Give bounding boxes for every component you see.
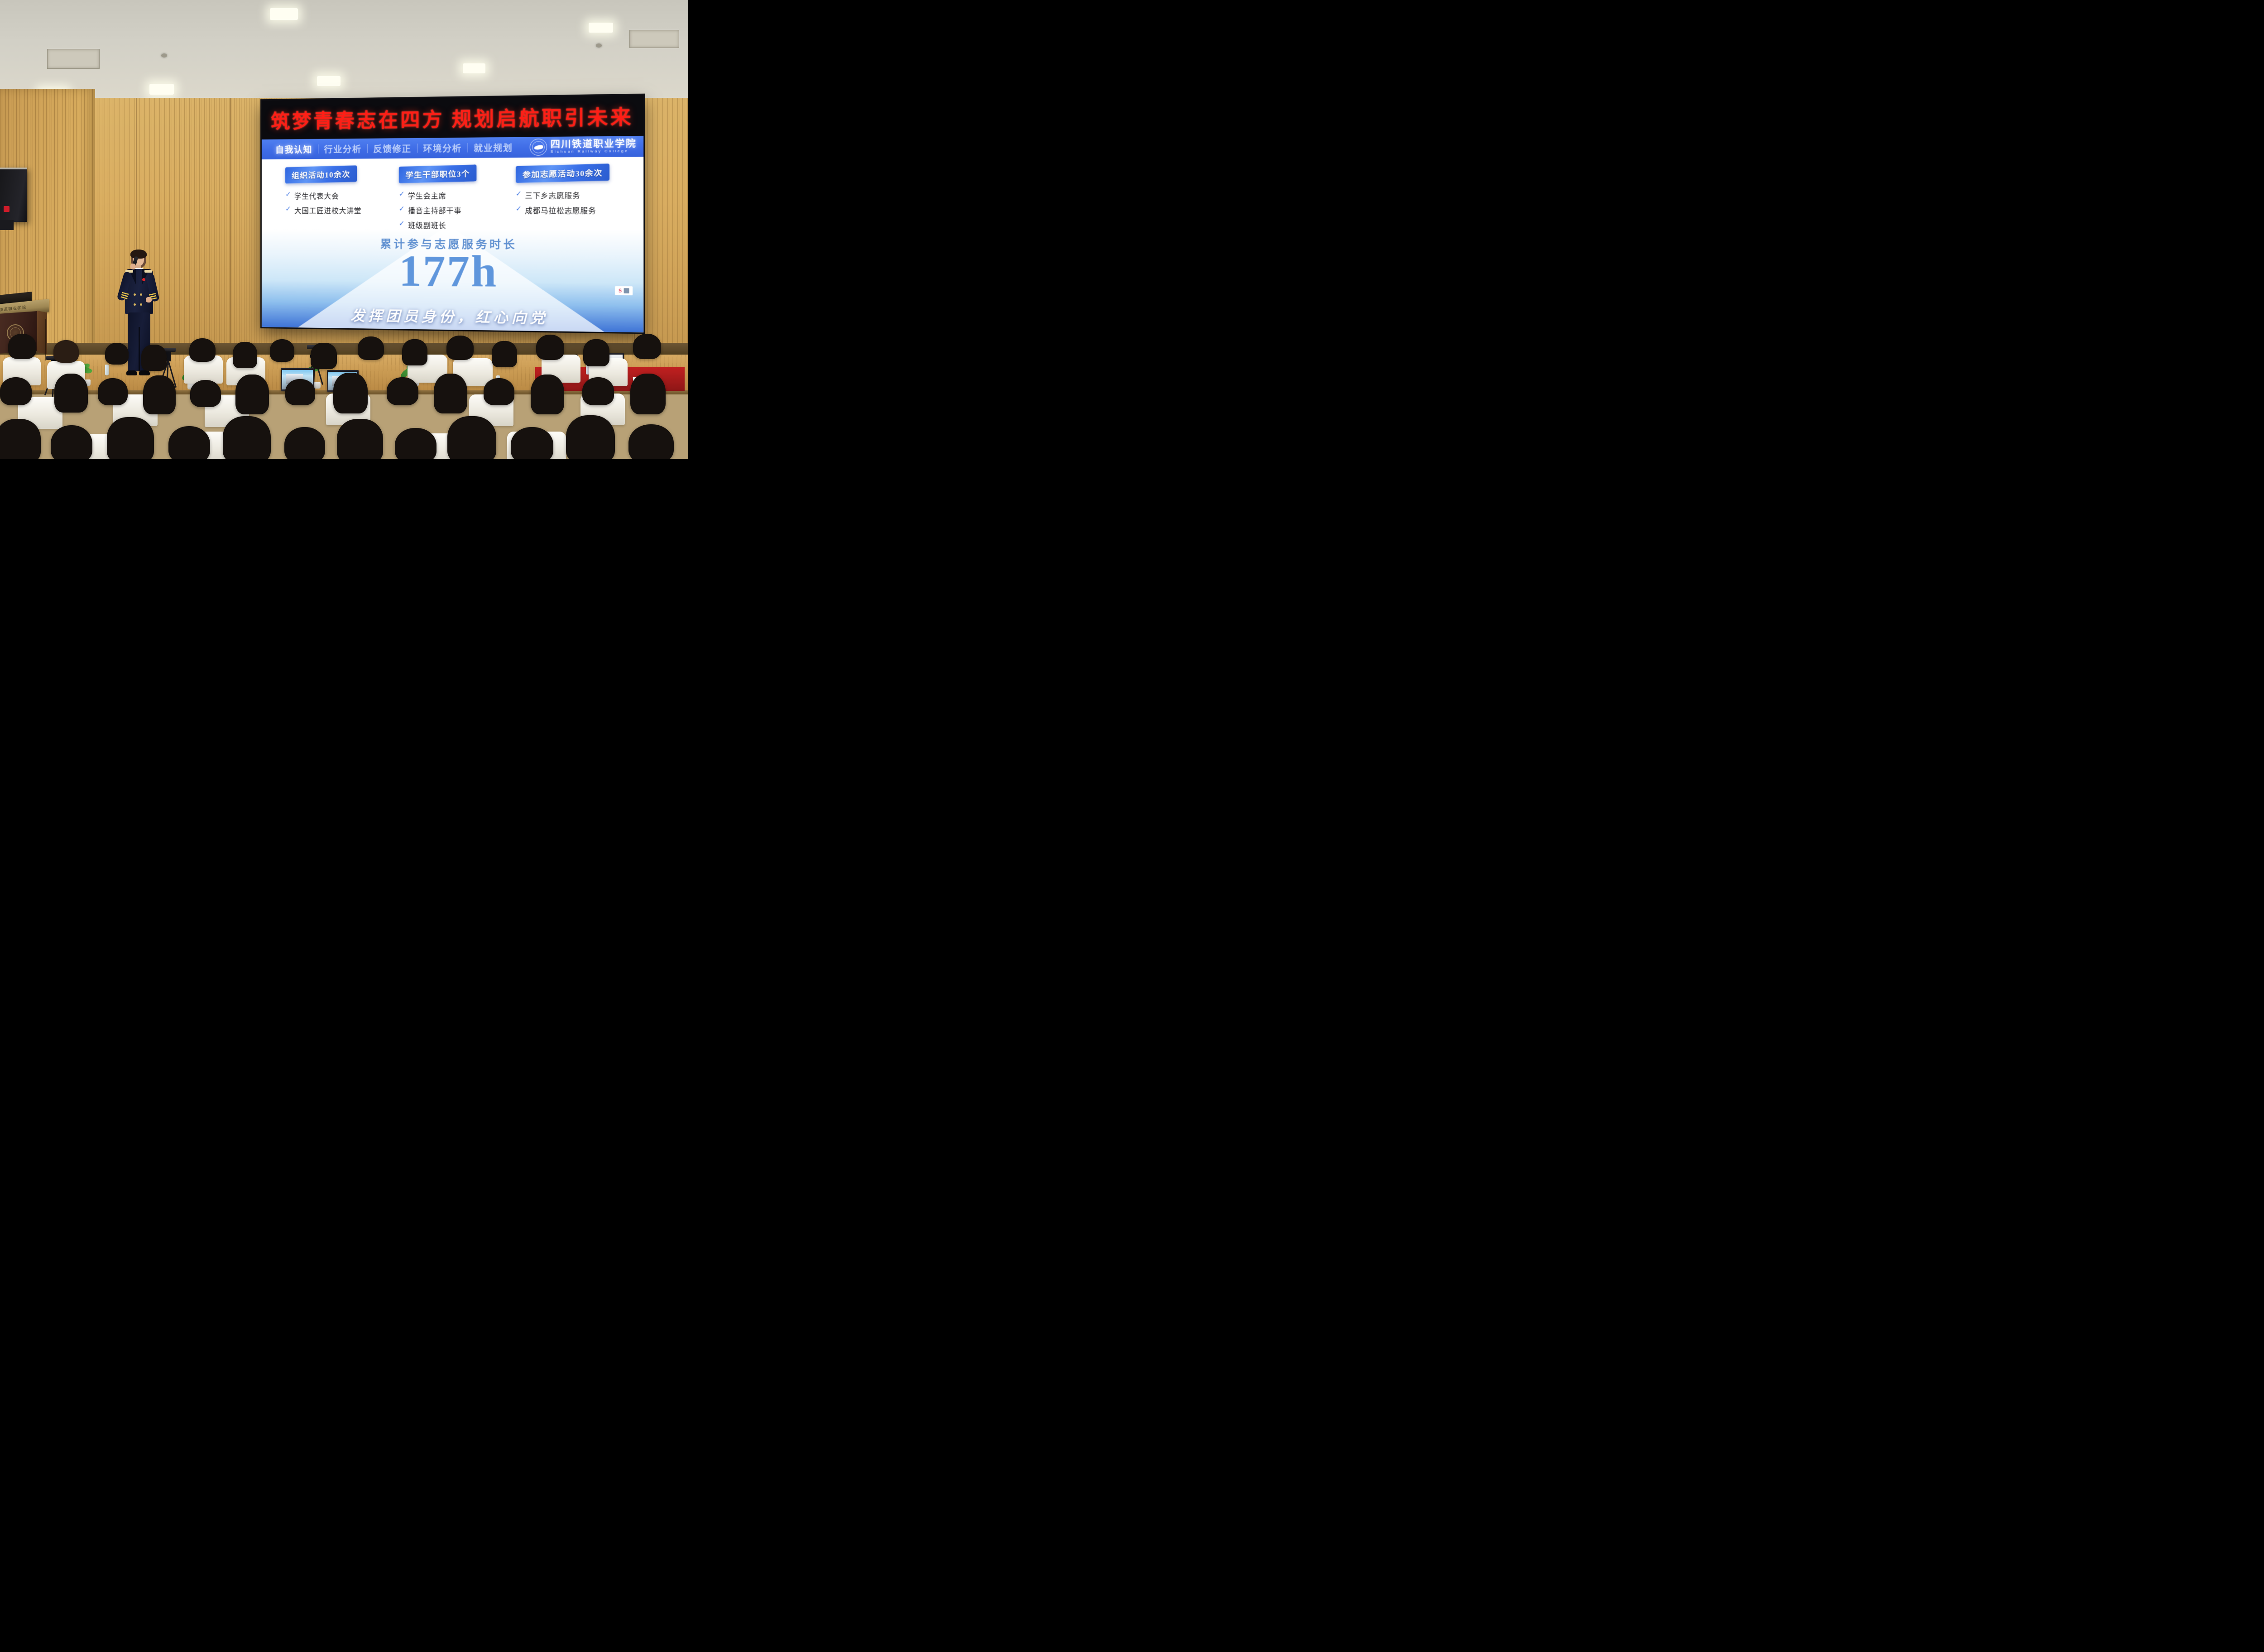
- institution-name-en: Sichuan Railway College: [551, 149, 637, 154]
- audience-head: [53, 340, 79, 363]
- presenter-hand: [146, 297, 152, 303]
- ceiling-light-panel: [149, 84, 174, 95]
- card-heading: 组织活动10余次: [285, 165, 357, 183]
- ceiling-light-panel: [589, 23, 613, 33]
- audience-head: [395, 428, 436, 459]
- hours-value: 177h: [262, 248, 643, 295]
- audience-head: [311, 343, 337, 369]
- tab-industry-analysis[interactable]: 行业分析: [318, 142, 367, 155]
- audience-head: [583, 339, 609, 366]
- list-item: ✓ 班级副班长: [399, 220, 498, 231]
- audience-head: [531, 375, 564, 414]
- audience-head: [536, 335, 564, 360]
- audience-head: [511, 427, 553, 459]
- audience-head: [0, 377, 32, 405]
- presentation-slide: 筑梦青春志在四方 规划启航职引未来 自我认知 行业分析 反馈修正 环境分析 就业…: [262, 95, 643, 332]
- list-item-label: 学生代表大会: [294, 191, 339, 201]
- audience-head: [387, 377, 418, 405]
- check-icon: ✓: [516, 190, 522, 197]
- presenter-hand: [130, 264, 136, 269]
- ac-vent: [629, 30, 679, 48]
- podium-nameplate-text: 铁道职业学院: [0, 304, 26, 312]
- check-icon: ✓: [399, 191, 405, 198]
- list-item: ✓ 成都马拉松志愿服务: [516, 205, 618, 216]
- card-organized-activities: 组织活动10余次 ✓ 学生代表大会 ✓ 大国工匠进校大讲堂: [285, 166, 382, 235]
- list-item-label: 三下乡志愿服务: [525, 190, 580, 201]
- audience-head: [446, 336, 474, 360]
- ceiling: [0, 0, 688, 105]
- audience-head: [633, 334, 661, 359]
- watermark-letter: S: [619, 287, 622, 294]
- smoke-detector-icon: [161, 53, 167, 58]
- audience-head: [358, 336, 384, 360]
- list-item: ✓ 学生代表大会: [285, 191, 382, 201]
- uniform-button: [140, 303, 142, 306]
- list-item-label: 班级副班长: [408, 220, 446, 231]
- ceiling-light-panel: [270, 8, 298, 20]
- wall-speaker: [0, 168, 27, 222]
- institution-name-cn: 四川铁道职业学院: [551, 139, 637, 150]
- list-item-label: 成都马拉松志愿服务: [525, 205, 596, 216]
- audience-head: [434, 374, 467, 413]
- check-icon: ✓: [399, 206, 405, 213]
- slide-title-bar: 筑梦青春志在四方 规划启航职引未来: [262, 95, 643, 139]
- card-heading: 参加志愿活动30余次: [516, 163, 609, 183]
- audience-head: [284, 427, 325, 459]
- list-item: ✓ 学生会主席: [399, 190, 498, 201]
- card-bullet-list: ✓ 学生会主席 ✓ 播音主持部干事 ✓ 班级副班长: [399, 190, 498, 231]
- audience-head: [0, 419, 41, 459]
- audience-head: [628, 424, 674, 459]
- audience-head: [233, 342, 257, 368]
- card-bullet-list: ✓ 三下乡志愿服务 ✓ 成都马拉松志愿服务: [516, 190, 618, 216]
- audience-head: [492, 341, 517, 367]
- audience-head: [285, 379, 315, 405]
- ceiling-light-panel: [463, 63, 485, 73]
- uniform-button: [140, 293, 142, 296]
- speaker-bracket: [0, 220, 14, 230]
- list-item: ✓ 三下乡志愿服务: [516, 190, 618, 201]
- audience-head: [98, 378, 128, 405]
- audience-head: [484, 378, 514, 405]
- party-emblem-badge-icon: [142, 278, 145, 281]
- check-icon: ✓: [399, 220, 405, 227]
- watermark-square-icon: [624, 288, 629, 293]
- uniform-button: [134, 293, 136, 296]
- audience-head: [143, 375, 176, 414]
- projector-mount-icon: [596, 43, 602, 48]
- tab-feedback-revision[interactable]: 反馈修正: [368, 142, 417, 154]
- speaker-brand-badge: [4, 206, 10, 212]
- tab-environment-analysis[interactable]: 环境分析: [417, 141, 467, 154]
- slide-section-nav: 自我认知 行业分析 反馈修正 环境分析 就业规划 四川铁道职业学院 Sichua…: [262, 136, 643, 159]
- achievement-cards: 组织活动10余次 ✓ 学生代表大会 ✓ 大国工匠进校大讲堂: [262, 164, 643, 235]
- audience-head: [630, 374, 666, 414]
- audience-head: [107, 417, 154, 459]
- audience-head: [223, 416, 271, 459]
- audience-head: [105, 343, 129, 365]
- list-item-label: 播音主持部干事: [408, 206, 462, 216]
- audience-head: [189, 338, 216, 362]
- audience-head: [54, 374, 88, 413]
- auditorium-scene: 铁道职业学院 筑梦青春志在四方 规划启航职引未来 自我认知 行业分析 反馈修正 …: [0, 0, 688, 459]
- audience-head: [235, 375, 269, 414]
- audience-head: [337, 419, 383, 459]
- card-student-leadership: 学生干部职位3个 ✓ 学生会主席 ✓ 播音主持部干事 ✓: [399, 165, 498, 235]
- check-icon: ✓: [285, 191, 291, 198]
- presenter-epaulette: [144, 270, 152, 273]
- check-icon: ✓: [516, 205, 522, 212]
- audience-head: [582, 377, 614, 405]
- audience-head: [333, 373, 368, 413]
- led-display-screen: 筑梦青春志在四方 规划启航职引未来 自我认知 行业分析 反馈修正 环境分析 就业…: [262, 95, 643, 332]
- card-heading: 学生干部职位3个: [399, 164, 477, 183]
- list-item-label: 大国工匠进校大讲堂: [294, 206, 361, 216]
- presenter-hair: [130, 250, 147, 259]
- institution-name-block: 四川铁道职业学院 Sichuan Railway College: [551, 139, 637, 154]
- list-item: ✓ 播音主持部干事: [399, 205, 498, 216]
- audience-head: [190, 380, 221, 407]
- audience-head: [270, 339, 294, 362]
- audience-head: [447, 416, 496, 459]
- ceiling-light-panel: [317, 76, 341, 86]
- ac-vent: [47, 49, 100, 69]
- audience-head: [141, 345, 167, 371]
- wall-seam: [230, 98, 231, 351]
- page-title: 筑梦青春志在四方 规划启航职引未来: [271, 101, 633, 134]
- slide-body: 组织活动10余次 ✓ 学生代表大会 ✓ 大国工匠进校大讲堂: [262, 157, 643, 332]
- slide-watermark: S: [615, 286, 633, 295]
- audience-head: [8, 334, 36, 359]
- audience-head: [566, 415, 615, 459]
- audience-seating: [0, 323, 688, 459]
- list-item: ✓ 大国工匠进校大讲堂: [285, 206, 382, 216]
- list-item-label: 学生会主席: [408, 191, 446, 201]
- check-icon: ✓: [285, 206, 291, 213]
- card-bullet-list: ✓ 学生代表大会 ✓ 大国工匠进校大讲堂: [285, 191, 382, 216]
- college-seal-icon: [530, 139, 547, 156]
- card-volunteer-activities: 参加志愿活动30余次 ✓ 三下乡志愿服务 ✓ 成都马拉松志愿服务: [516, 164, 618, 235]
- volunteer-hours-banner: 累计参与志愿服务时长 177h 发挥团员身份，红心向党 S: [262, 229, 643, 332]
- audience-head: [168, 426, 210, 459]
- tab-career-planning[interactable]: 就业规划: [468, 141, 519, 154]
- institution-logo: 四川铁道职业学院 Sichuan Railway College: [530, 138, 643, 156]
- audience-head: [51, 425, 92, 459]
- tab-self-awareness[interactable]: 自我认知: [270, 143, 318, 155]
- audience-head: [402, 339, 427, 365]
- uniform-button: [134, 303, 136, 306]
